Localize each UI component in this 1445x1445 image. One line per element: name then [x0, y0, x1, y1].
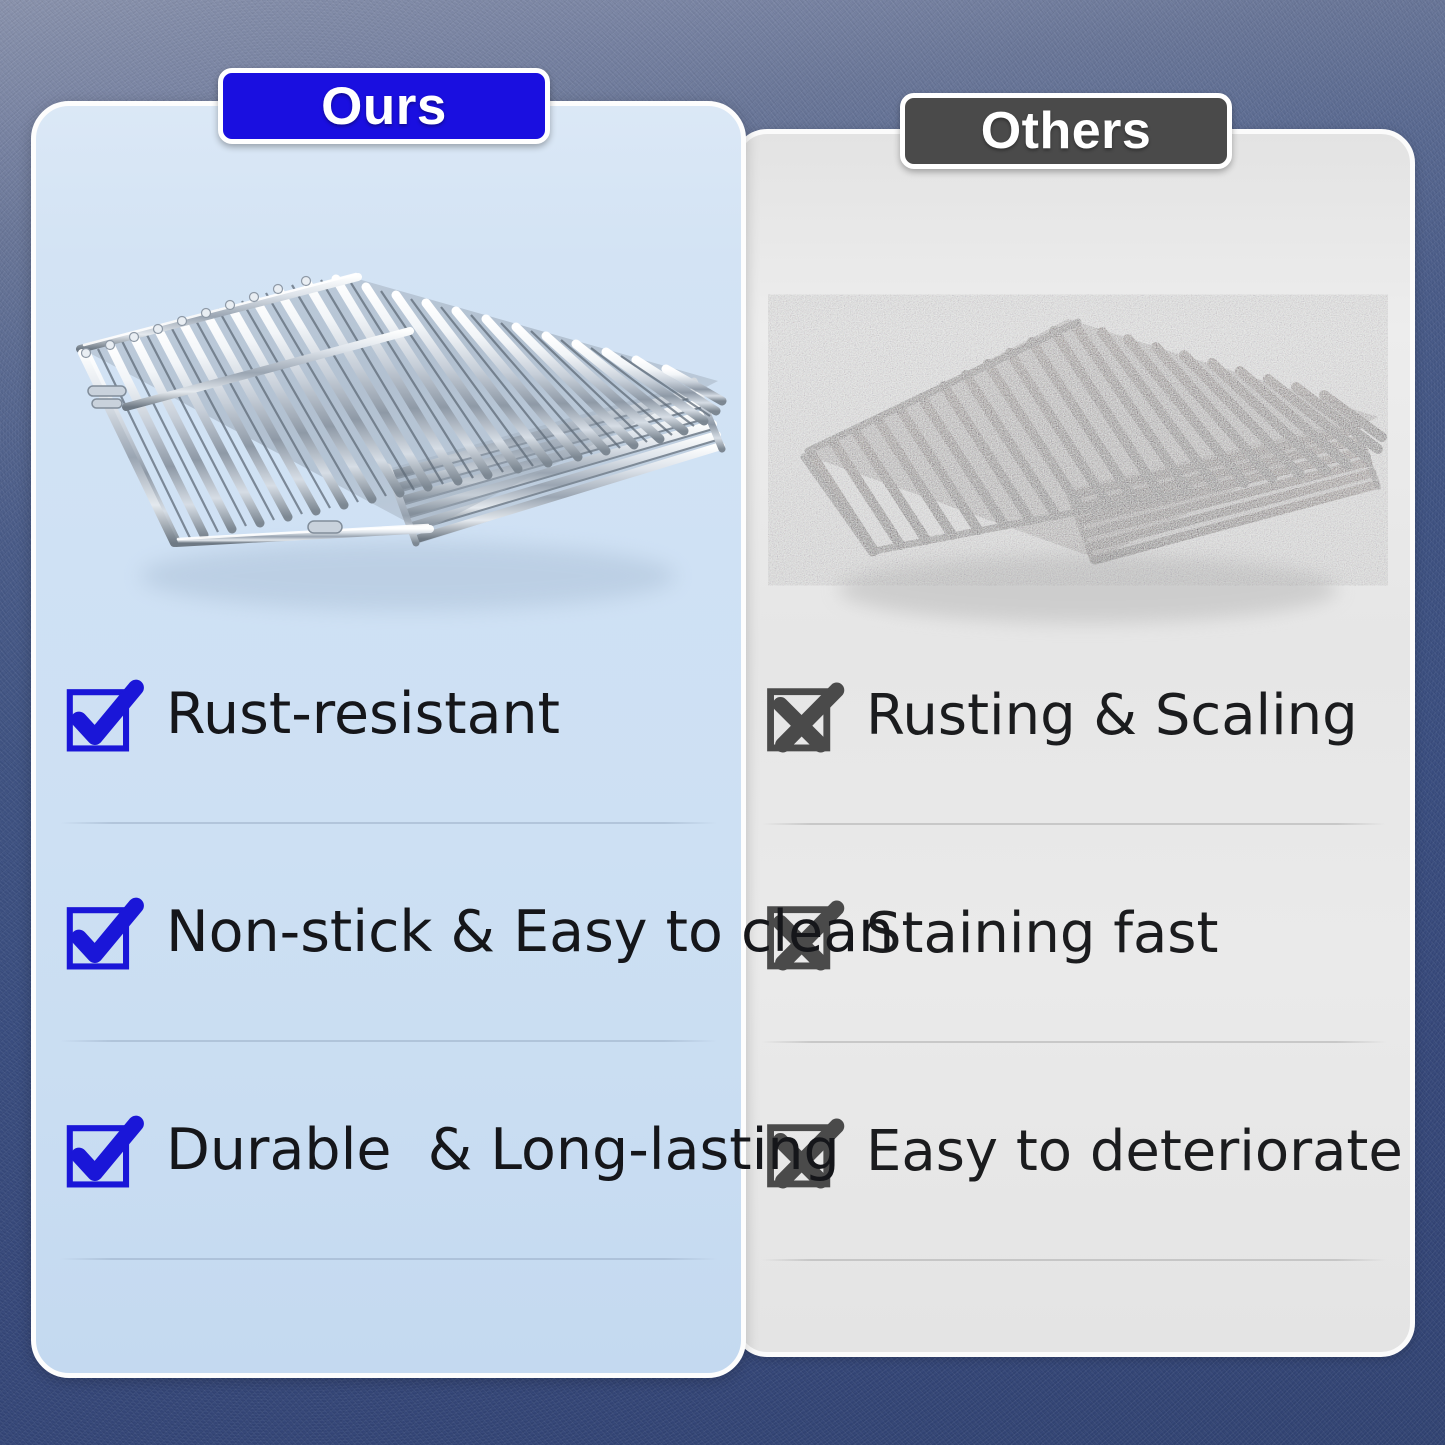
feature-label: Rust-resistant: [166, 685, 560, 745]
feature-label: Durable & Long-lasting: [166, 1121, 840, 1181]
feature-list-ours: Rust-resistant Non-stick & Easy to clean…: [36, 606, 741, 1260]
checkbox-checked-icon: [66, 677, 142, 753]
badge-ours: Ours: [218, 68, 550, 144]
comparison-panel-ours: Rust-resistant Non-stick & Easy to clean…: [31, 101, 746, 1378]
feature-label: Non-stick & Easy to clean: [166, 903, 894, 963]
badge-others: Others: [900, 93, 1232, 169]
feature-label: Staining fast: [866, 905, 1218, 964]
checkbox-crossed-icon: [766, 678, 842, 754]
feature-row: Non-stick & Easy to clean: [36, 824, 741, 1042]
product-image-others: [768, 259, 1388, 659]
checkbox-checked-icon: [66, 1113, 142, 1189]
feature-label: Easy to deteriorate: [866, 1123, 1403, 1182]
checkbox-checked-icon: [66, 895, 142, 971]
feature-label: Rusting & Scaling: [866, 687, 1358, 746]
feature-row: Durable & Long-lasting: [36, 1042, 741, 1260]
product-image-ours: [58, 231, 730, 641]
